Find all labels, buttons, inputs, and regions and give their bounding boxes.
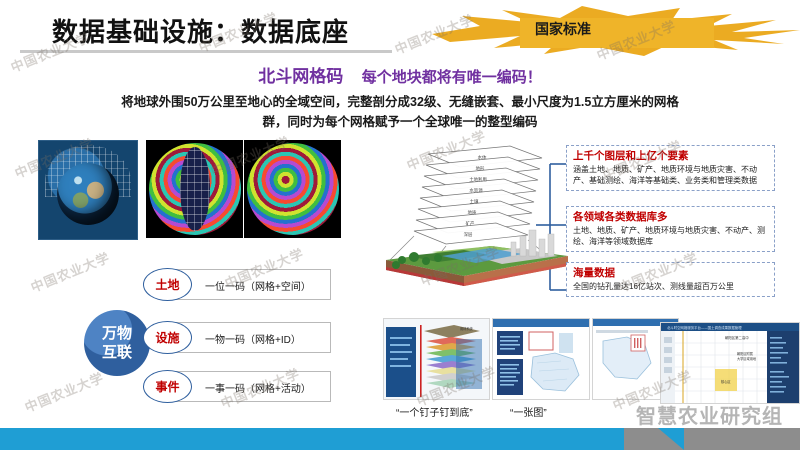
screenshot-map-query-svg	[493, 319, 589, 399]
footer-bar	[0, 428, 800, 450]
screenshot-map-query	[492, 318, 590, 400]
info-box-title: 各领域各类数据库多	[573, 210, 769, 224]
svg-text:地形: 地形	[476, 165, 485, 172]
svg-text:大学区域用地: 大学区域用地	[737, 356, 757, 361]
row-text-facility: 一物一码（网格+ID）	[205, 331, 301, 346]
subtitle-main: 北斗网格码	[258, 67, 343, 86]
hub-line-1: 万物	[102, 324, 132, 343]
row-text-event: 一事一码（网格+活动）	[205, 380, 311, 395]
svg-text:地质: 地质	[468, 209, 477, 216]
earth-sphere	[57, 163, 119, 225]
info-box-body: 全国的钻孔量达16亿站次、测线量超百万公里	[573, 281, 769, 292]
svg-text:土地利用: 土地利用	[469, 176, 487, 183]
hub-node-interconnect: 万物 互联	[84, 310, 150, 376]
banner-label: 国家标准	[513, 19, 613, 39]
watermark-text: 中国农业大学	[28, 247, 113, 296]
description-text: 将地球外围50万公里至地心的全域空间，完整剖分成32级、无缝嵌套、最小尺度为1.…	[46, 92, 754, 132]
screenshot-grid-gis-svg: 北斗时空网格服务平台——国土调查成果数据管理 核心区 朝阳区第二高中 朝阳区附属…	[661, 323, 799, 403]
caption-one-map: “一张图”	[510, 404, 547, 419]
grid-color-bands-right	[247, 143, 339, 235]
svg-text:北斗时空网格服务平台——国土调查成果数据管理: 北斗时空网格服务平台——国土调查成果数据管理	[667, 325, 742, 330]
row-text-land: 一位一码（网格+空间）	[205, 278, 311, 293]
svg-text:水体: 水体	[478, 154, 487, 161]
title-underline	[20, 50, 392, 53]
pill-tag-event: 事件	[143, 370, 192, 403]
svg-text:朝阳区第二高中: 朝阳区第二高中	[725, 335, 749, 340]
screenshot-layer-panel: 用林系统	[383, 318, 490, 400]
pill-tag-land: 土地	[143, 268, 192, 301]
info-box-title: 海量数据	[573, 266, 769, 280]
slide-canvas: 数据基础设施：数据底座 国家标准 北斗网格码 每个地块都将有唯一编码！ 将地球外…	[0, 0, 800, 450]
caption-nail-to-bottom: “一个钉子钉到底”	[396, 404, 473, 419]
subtitle-sub: 每个地块都将有唯一编码！	[362, 69, 542, 86]
svg-text:矿产: 矿产	[466, 220, 475, 227]
grid-core-ellipse	[180, 147, 210, 231]
screenshot-grid-gis: 北斗时空网格服务平台——国土调查成果数据管理 核心区 朝阳区第二高中 朝阳区附属…	[660, 322, 800, 404]
subtitle-row: 北斗网格码 每个地块都将有唯一编码！	[0, 62, 800, 87]
layer-stack-diagram: 水体 地形 土地利用 水资源 土壤 地质 矿产 深层	[372, 136, 582, 286]
info-box-databases: 各领域各类数据库多 土地、地质、矿产、地质环境与地质灾害、不动产、测绘、海洋等领…	[566, 206, 775, 252]
svg-text:深层: 深层	[464, 231, 473, 238]
footer-page-number: 44	[743, 5, 754, 16]
hub-line-2: 互联	[102, 343, 132, 362]
earth-globe-image	[38, 140, 138, 240]
info-box-title: 上千个图层和上亿个要素	[573, 149, 769, 163]
info-box-body: 土地、地质、矿产、地质环境与地质灾害、不动产、测绘、海洋等领域数据库	[573, 225, 769, 247]
svg-text:土壤: 土壤	[470, 198, 479, 205]
grid-partition-image-left	[146, 140, 243, 238]
watermark-group-label: 智慧农业研究组	[636, 400, 783, 429]
info-box-body: 涵盖土地、地质、矿产、地质环境与地质灾害、不动产、基础测绘、海洋等基础类、业务类…	[573, 164, 769, 186]
info-box-layers: 上千个图层和上亿个要素 涵盖土地、地质、矿产、地质环境与地质灾害、不动产、基础测…	[566, 145, 775, 191]
description-line-1: 将地球外围50万公里至地心的全域空间，完整剖分成32级、无缝嵌套、最小尺度为1.…	[46, 92, 754, 112]
screenshot-layer-panel-svg: 用林系统	[384, 319, 489, 399]
info-box-massive-data: 海量数据 全国的钻孔量达16亿站次、测线量超百万公里	[566, 262, 775, 297]
description-line-2: 群，同时为每个网格赋予一个全球唯一的整型编码	[46, 112, 754, 132]
svg-text:朝阳区附属: 朝阳区附属	[737, 351, 753, 356]
watermark-text: 中国农业大学	[22, 367, 107, 416]
layer-stack-svg: 水体 地形 土地利用 水资源 土壤 地质 矿产 深层	[372, 136, 582, 286]
svg-text:水资源: 水资源	[469, 187, 483, 194]
svg-text:核心区: 核心区	[721, 379, 731, 384]
svg-text:用林系统: 用林系统	[460, 326, 474, 331]
pill-tag-facility: 设施	[143, 321, 192, 354]
grid-partition-image-right	[244, 140, 341, 238]
footer-organization: 中国农业大学 | 李想 副教授	[0, 5, 800, 20]
